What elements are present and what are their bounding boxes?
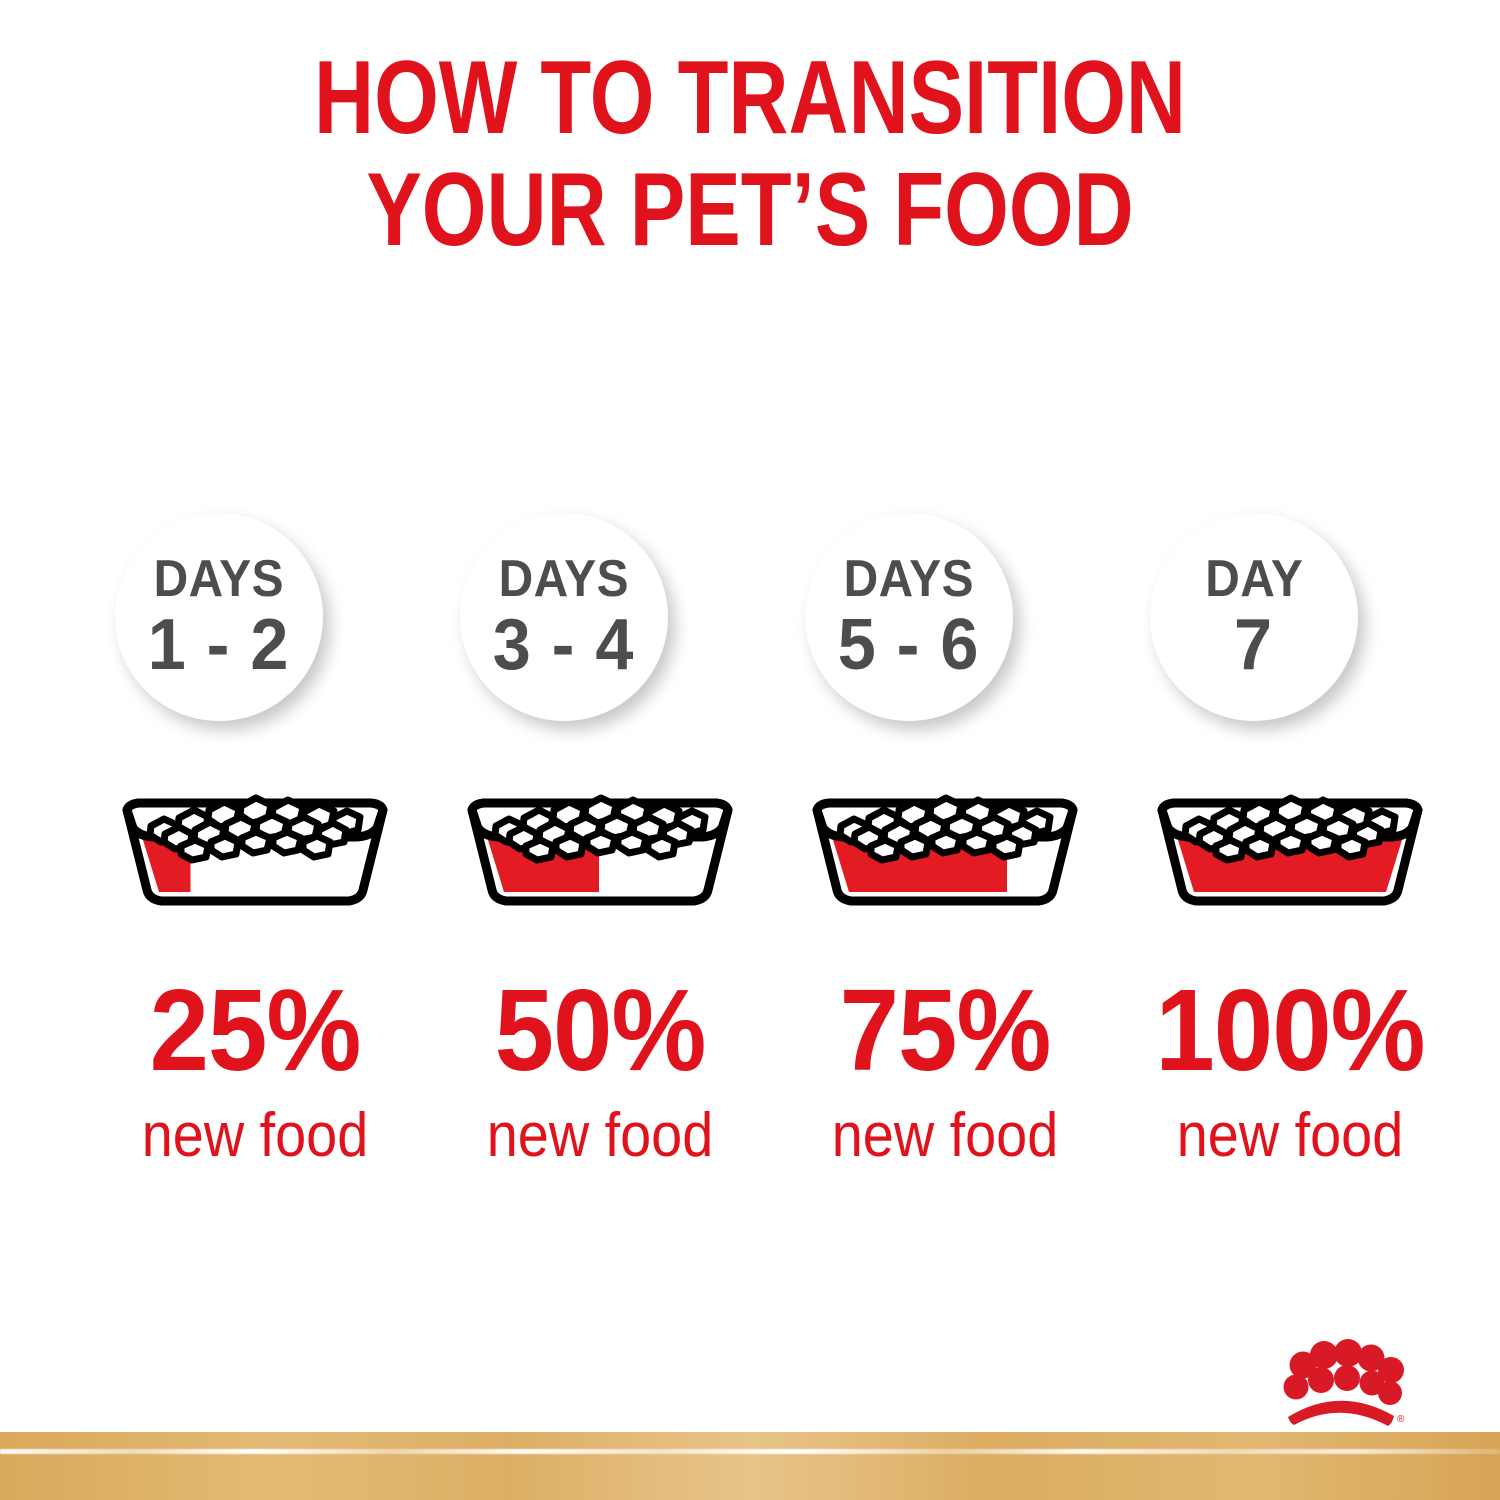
royal-canin-crown-icon: ® — [1272, 1338, 1408, 1430]
day-badge-number-3: 5 - 6 — [838, 608, 980, 682]
day-badge-number-4: 7 — [1234, 608, 1273, 682]
gold-band-streak — [0, 1449, 1500, 1454]
day-badge-1: DAYS 1 - 2 — [115, 513, 323, 721]
percent-value-2: 50% — [462, 972, 738, 1088]
percent-value-4: 100% — [1152, 972, 1428, 1088]
day-badge-4: DAY 7 — [1150, 513, 1358, 721]
day-badge-word-3: DAYS — [844, 552, 974, 606]
percent-value-1: 25% — [117, 972, 393, 1088]
gold-brand-band — [0, 1432, 1500, 1500]
day-badge-2: DAYS 3 - 4 — [460, 513, 668, 721]
transition-step-1: DAYS 1 - 2 — [105, 0, 460, 1500]
percent-caption-2: new food — [465, 1104, 735, 1168]
food-bowl-3 — [795, 752, 1095, 912]
food-bowl-2 — [450, 752, 750, 912]
day-badge-word-1: DAYS — [154, 552, 284, 606]
percent-value-3: 75% — [807, 972, 1083, 1088]
percent-caption-1: new food — [120, 1104, 390, 1168]
day-badge-number-1: 1 - 2 — [148, 608, 290, 682]
transition-steps: DAYS 1 - 2 — [0, 0, 1500, 1500]
food-bowl-1 — [105, 752, 405, 912]
day-badge-3: DAYS 5 - 6 — [805, 513, 1013, 721]
day-badge-number-2: 3 - 4 — [493, 608, 635, 682]
transition-step-2: DAYS 3 - 4 — [450, 0, 805, 1500]
percent-caption-4: new food — [1155, 1104, 1425, 1168]
percent-caption-3: new food — [810, 1104, 1080, 1168]
day-badge-word-4: DAY — [1205, 552, 1303, 606]
day-badge-word-2: DAYS — [499, 552, 629, 606]
transition-step-3: DAYS 5 - 6 — [795, 0, 1150, 1500]
food-bowl-4 — [1140, 752, 1440, 912]
transition-step-4: DAY 7 — [1140, 0, 1495, 1500]
registered-mark: ® — [1397, 1414, 1405, 1425]
